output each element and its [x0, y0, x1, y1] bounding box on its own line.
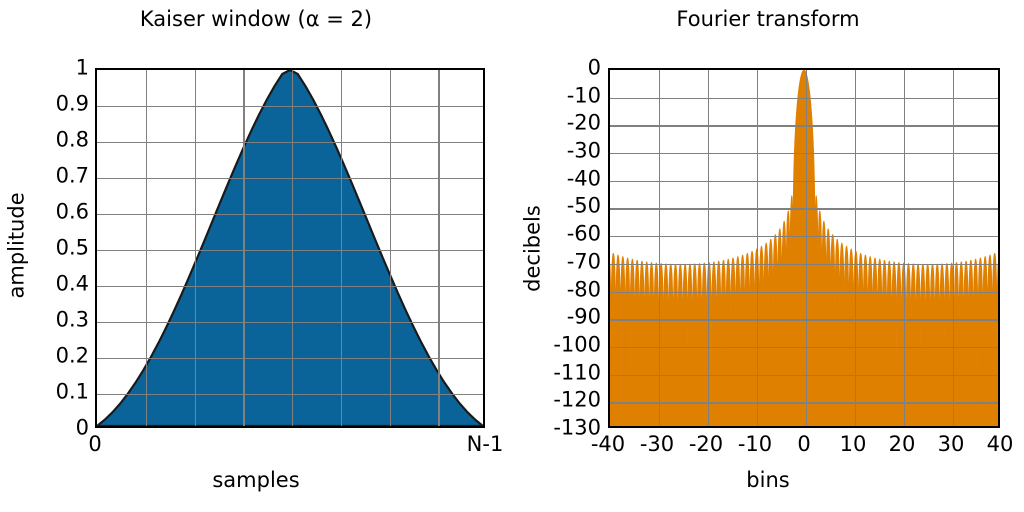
panel-title-left: Kaiser window (α = 2)	[0, 6, 512, 32]
y-tick-mark	[998, 263, 1000, 265]
y-tick-mark	[95, 177, 97, 179]
gridline-horizontal	[97, 358, 483, 359]
figure-canvas: Kaiser window (α = 2) 00.10.20.30.40.50.…	[0, 0, 1024, 512]
y-tick-label: 0.8	[56, 130, 89, 151]
y-tick-label: -100	[553, 334, 601, 355]
axes-fourier-transform	[608, 68, 1000, 428]
gridline-horizontal	[610, 264, 998, 265]
y-tick-label: -120	[553, 390, 601, 411]
y-tick-label: -110	[553, 362, 601, 383]
x-tick-mark	[952, 426, 954, 428]
y-tick-label: -50	[567, 196, 601, 217]
y-tick-label: 0.1	[56, 382, 89, 403]
y-tick-mark	[95, 213, 97, 215]
x-tick-mark	[97, 426, 99, 428]
x-tick-label: 10	[840, 434, 867, 455]
y-tick-label: -30	[567, 141, 601, 162]
axis-label-y-left: amplitude	[7, 199, 28, 299]
gridline-horizontal	[610, 98, 998, 99]
y-tick-mark	[483, 249, 485, 251]
x-tick-label: -40	[591, 434, 625, 455]
y-tick-mark	[95, 285, 97, 287]
y-tick-mark	[95, 141, 97, 143]
gridline-horizontal	[610, 319, 998, 320]
y-tick-mark	[608, 69, 610, 71]
gridline-horizontal	[97, 178, 483, 179]
y-tick-mark	[608, 373, 610, 375]
gridline-vertical	[341, 70, 342, 426]
y-tick-label: -70	[567, 251, 601, 272]
y-tick-label: 0.2	[56, 346, 89, 367]
gridline-horizontal	[97, 214, 483, 215]
x-tick-label: -20	[689, 434, 723, 455]
x-tick-mark	[610, 426, 612, 428]
y-tick-mark	[95, 393, 97, 395]
y-tick-label: -90	[567, 307, 601, 328]
y-tick-label: 0.4	[56, 274, 89, 295]
gridline-vertical	[659, 70, 660, 426]
gridline-horizontal	[610, 125, 998, 126]
x-tick-label: 30	[938, 434, 965, 455]
x-tick-mark	[854, 426, 856, 428]
y-tick-mark	[608, 263, 610, 265]
y-tick-mark	[998, 401, 1000, 403]
y-tick-mark	[608, 290, 610, 292]
x-tick-label: 20	[889, 434, 916, 455]
x-tick-label: 40	[987, 434, 1014, 455]
gridline-vertical	[904, 70, 905, 426]
y-tick-mark	[483, 141, 485, 143]
axis-label-x-left: samples	[0, 468, 512, 492]
fourier-transform-spectrum	[610, 70, 998, 426]
y-tick-mark	[95, 321, 97, 323]
x-tick-labels-right: -40-30-20-10010203040	[512, 434, 1024, 460]
y-tick-label: 0.3	[56, 310, 89, 331]
y-tick-mark	[998, 69, 1000, 71]
y-tick-label: 0.7	[56, 166, 89, 187]
gridline-horizontal	[97, 394, 483, 395]
x-tick-label: N-1	[467, 434, 504, 455]
y-tick-label: 0.9	[56, 94, 89, 115]
gridline-vertical	[146, 70, 147, 426]
x-tick-label: -10	[738, 434, 772, 455]
y-tick-label: -20	[567, 113, 601, 134]
gridline-vertical	[292, 70, 293, 426]
x-tick-label: 0	[797, 434, 810, 455]
gridline-vertical	[708, 70, 709, 426]
y-tick-mark	[998, 124, 1000, 126]
axis-label-x-right: bins	[512, 468, 1024, 492]
y-tick-mark	[998, 346, 1000, 348]
gridline-vertical	[855, 70, 856, 426]
y-tick-mark	[998, 207, 1000, 209]
y-tick-mark	[483, 357, 485, 359]
y-tick-mark	[483, 321, 485, 323]
axis-label-y-right: decibels	[523, 199, 544, 299]
y-tick-mark	[95, 357, 97, 359]
gridline-horizontal	[97, 142, 483, 143]
y-tick-label: 0.5	[56, 238, 89, 259]
gridline-horizontal	[610, 347, 998, 348]
x-tick-mark	[658, 426, 660, 428]
y-tick-mark	[95, 249, 97, 251]
gridline-horizontal	[97, 286, 483, 287]
gridline-horizontal	[97, 322, 483, 323]
y-tick-label: -40	[567, 168, 601, 189]
gridline-horizontal	[97, 250, 483, 251]
y-tick-mark	[998, 373, 1000, 375]
y-tick-mark	[483, 177, 485, 179]
gridline-vertical	[757, 70, 758, 426]
y-tick-mark	[483, 393, 485, 395]
gridline-horizontal	[610, 375, 998, 376]
gridline-horizontal	[610, 292, 998, 293]
y-tick-mark	[608, 346, 610, 348]
y-tick-mark	[608, 318, 610, 320]
y-tick-label: -80	[567, 279, 601, 300]
y-tick-mark	[483, 69, 485, 71]
gridline-horizontal	[610, 236, 998, 237]
y-tick-label: 0	[588, 58, 601, 79]
y-tick-mark	[483, 105, 485, 107]
gridline-vertical	[390, 70, 391, 426]
gridline-vertical	[806, 70, 807, 426]
x-tick-mark	[756, 426, 758, 428]
gridline-vertical	[243, 70, 244, 426]
x-tick-label: 0	[88, 434, 101, 455]
y-tick-mark	[95, 69, 97, 71]
y-tick-label: -10	[567, 85, 601, 106]
y-tick-label: 1	[76, 58, 89, 79]
y-tick-mark	[608, 207, 610, 209]
y-tick-mark	[483, 213, 485, 215]
y-tick-mark	[483, 285, 485, 287]
y-tick-mark	[998, 180, 1000, 182]
x-tick-mark	[707, 426, 709, 428]
y-tick-label: -60	[567, 224, 601, 245]
y-tick-mark	[998, 96, 1000, 98]
panel-title-right: Fourier transform	[512, 6, 1024, 32]
gridline-horizontal	[610, 153, 998, 154]
gridline-horizontal	[610, 402, 998, 403]
kaiser-window-area	[97, 70, 483, 426]
gridline-horizontal	[97, 106, 483, 107]
y-tick-mark	[608, 96, 610, 98]
y-tick-mark	[95, 105, 97, 107]
y-tick-mark	[608, 401, 610, 403]
x-tick-label: -30	[640, 434, 674, 455]
y-tick-mark	[608, 124, 610, 126]
y-tick-mark	[998, 290, 1000, 292]
y-tick-mark	[608, 152, 610, 154]
axes-kaiser-window	[95, 68, 485, 428]
gridline-horizontal	[610, 181, 998, 182]
y-tick-mark	[998, 235, 1000, 237]
y-tick-mark	[998, 152, 1000, 154]
x-tick-mark	[805, 426, 807, 428]
gridline-vertical	[953, 70, 954, 426]
y-tick-mark	[608, 235, 610, 237]
panel-kaiser-window: Kaiser window (α = 2) 00.10.20.30.40.50.…	[0, 0, 512, 512]
fourier-spectrum-area	[610, 70, 998, 426]
x-tick-mark	[903, 426, 905, 428]
gridline-vertical	[195, 70, 196, 426]
y-tick-mark	[608, 180, 610, 182]
gridline-vertical	[438, 70, 439, 426]
y-tick-label: 0.6	[56, 202, 89, 223]
x-tick-labels-left: 0N-1	[0, 434, 512, 460]
kaiser-window-curve	[97, 70, 483, 426]
gridline-horizontal	[610, 208, 998, 209]
y-tick-mark	[998, 318, 1000, 320]
